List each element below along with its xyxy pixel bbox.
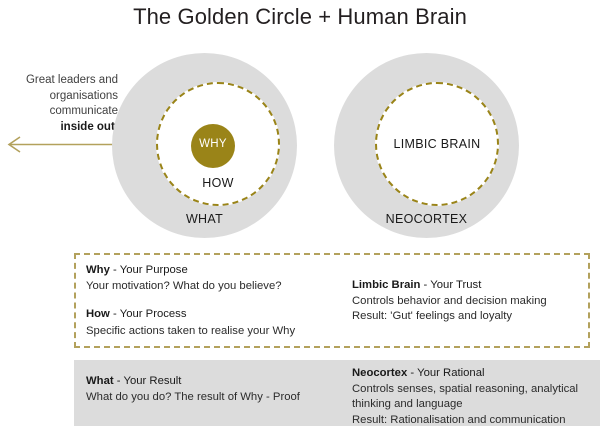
info-block: Limbic Brain - Your TrustControls behavi… (352, 278, 592, 325)
annotation-line-3: communicate (0, 104, 118, 120)
label-how: HOW (156, 176, 280, 190)
info-block-detail: Controls behavior and decision making (352, 294, 592, 309)
annotation-line-1: Great leaders and (0, 73, 118, 89)
info-block: What - Your ResultWhat do you do? The re… (86, 374, 346, 405)
info-block-heading: Why - Your Purpose (86, 263, 346, 278)
info-block-detail: Result: Rationalisation and communicatio… (352, 413, 598, 426)
info-column-why-how: Why - Your PurposeYour motivation? What … (86, 263, 346, 339)
info-block-term: Limbic Brain (352, 279, 420, 291)
info-block-term: Neocortex (352, 367, 407, 379)
info-column-limbic: Limbic Brain - Your TrustControls behavi… (352, 278, 592, 325)
info-block-heading: Limbic Brain - Your Trust (352, 278, 592, 293)
info-block-detail: thinking and language (352, 397, 598, 412)
diagram-page: The Golden Circle + Human Brain Great le… (0, 0, 600, 426)
info-block-detail: Specific actions taken to realise your W… (86, 324, 346, 339)
label-what: WHAT (112, 212, 297, 226)
label-why: WHY (191, 138, 235, 150)
info-column-neocortex: Neocortex - Your RationalControls senses… (352, 366, 598, 426)
info-block-detail: What do you do? The result of Why - Proo… (86, 390, 346, 405)
info-block: How - Your ProcessSpecific actions taken… (86, 307, 346, 338)
label-neocortex: NEOCORTEX (334, 212, 519, 226)
page-title: The Golden Circle + Human Brain (0, 4, 600, 30)
info-block-term: What (86, 375, 114, 387)
info-block: Neocortex - Your RationalControls senses… (352, 366, 598, 426)
info-block: Why - Your PurposeYour motivation? What … (86, 263, 346, 294)
info-block-term: Why (86, 264, 110, 276)
info-block-heading: How - Your Process (86, 307, 346, 322)
info-column-what: What - Your ResultWhat do you do? The re… (86, 374, 346, 405)
info-block-detail: Result: 'Gut' feelings and loyalty (352, 309, 592, 324)
info-block-term: How (86, 308, 110, 320)
info-block-detail: Your motivation? What do you believe? (86, 279, 346, 294)
info-block-heading: Neocortex - Your Rational (352, 366, 598, 381)
label-limbic-brain: LIMBIC BRAIN (375, 137, 499, 151)
annotation-line-2: organisations (0, 89, 118, 105)
info-block-heading: What - Your Result (86, 374, 346, 389)
info-block-detail: Controls senses, spatial reasoning, anal… (352, 382, 598, 397)
annotation-text: Great leaders and organisations communic… (0, 73, 118, 135)
